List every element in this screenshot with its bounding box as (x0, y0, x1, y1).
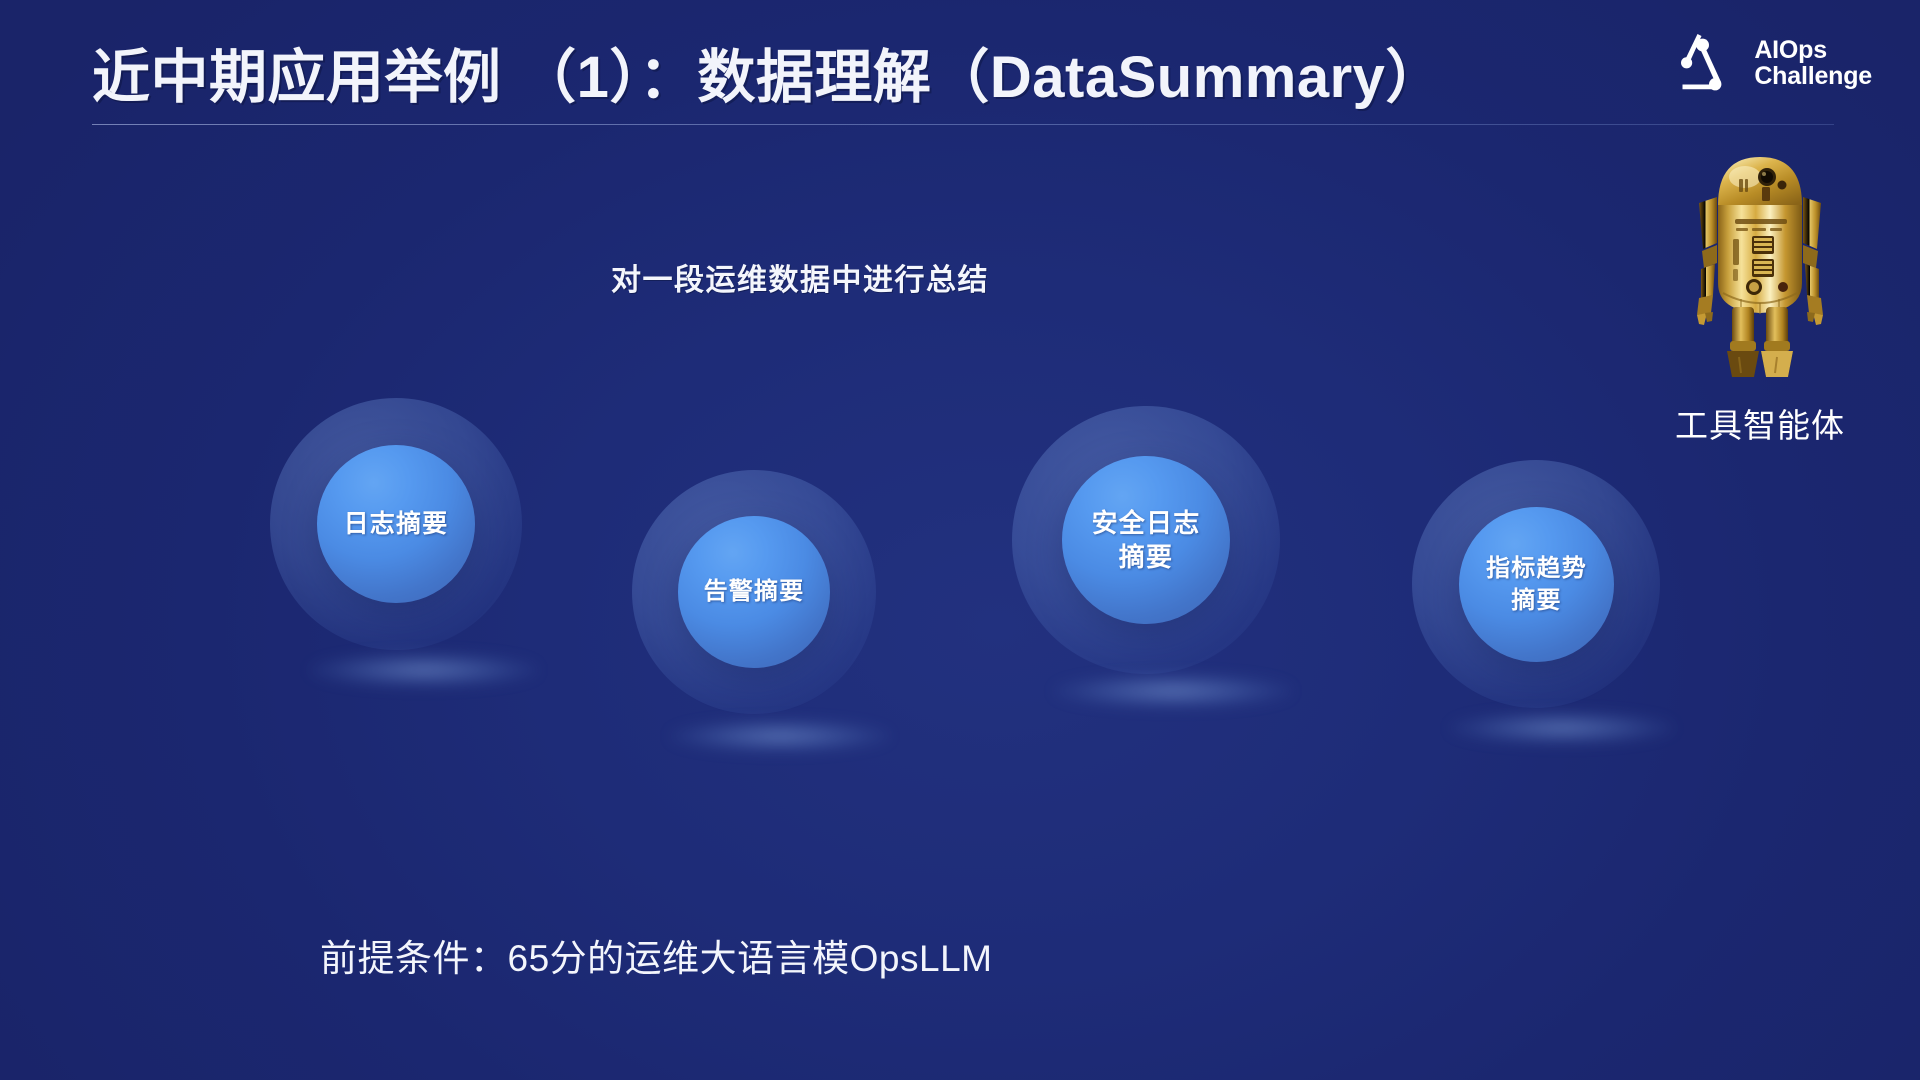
bubble-reflection (1450, 712, 1674, 744)
bubble-group: 日志摘要 告警摘要 安全日志 摘要 指标趋势 摘要 (0, 0, 1920, 1080)
bubble-label: 告警摘要 (692, 576, 817, 608)
slide-canvas: 近中期应用举例 （1）：数据理解（DataSummary） A (0, 0, 1920, 1080)
bubble-log-summary[interactable]: 日志摘要 (270, 398, 522, 650)
bubble-label: 安全日志 摘要 (1080, 506, 1213, 575)
bubble-core: 日志摘要 (317, 445, 475, 603)
bubble-label: 日志摘要 (332, 508, 461, 541)
bubble-core: 指标趋势 摘要 (1459, 507, 1614, 662)
bubble-label: 指标趋势 摘要 (1474, 553, 1599, 616)
bubble-reflection (310, 653, 538, 687)
bubble-security-log-summary[interactable]: 安全日志 摘要 (1012, 406, 1280, 674)
bubble-core: 安全日志 摘要 (1062, 456, 1230, 624)
bubble-alert-summary[interactable]: 告警摘要 (632, 470, 876, 714)
bubble-reflection (1054, 674, 1292, 708)
bubble-metric-trend-summary[interactable]: 指标趋势 摘要 (1412, 460, 1660, 708)
bubble-reflection (670, 720, 890, 752)
bubble-core: 告警摘要 (678, 516, 830, 668)
prerequisite-note: 前提条件：65分的运维大语言模OpsLLM (320, 928, 993, 982)
